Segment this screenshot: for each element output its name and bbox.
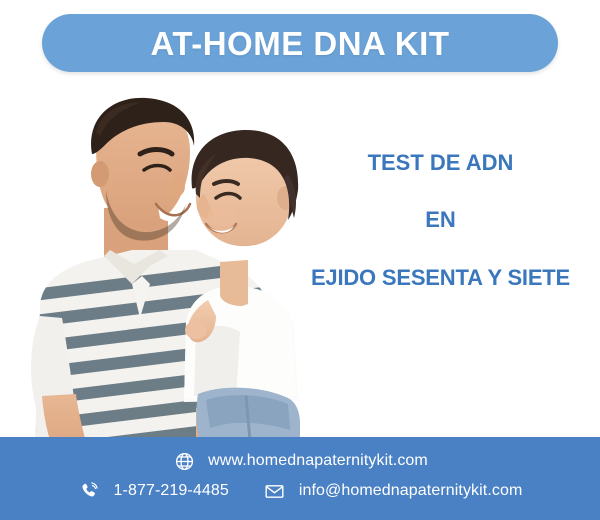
phone-text: 1-877-219-4485 — [114, 482, 229, 500]
globe-icon — [172, 449, 196, 473]
footer-website-row: www.homednapaternitykit.com — [0, 449, 600, 473]
headline-block: TEST DE ADN EN EJIDO SESENTA Y SIETE — [288, 150, 593, 290]
contact-email[interactable]: info@homednapaternitykit.com — [263, 479, 523, 503]
header-banner: AT-HOME DNA KIT — [42, 14, 558, 72]
website-text: www.homednapaternitykit.com — [208, 452, 428, 470]
contact-phone[interactable]: 1-877-219-4485 — [78, 479, 229, 503]
email-text: info@homednapaternitykit.com — [299, 482, 523, 500]
page-title: AT-HOME DNA KIT — [151, 27, 450, 60]
dna-kit-poster: AT-HOME DNA KIT — [0, 0, 600, 520]
headline-line-2: EN — [288, 207, 593, 232]
envelope-icon — [263, 479, 287, 503]
footer-contact-bar: www.homednapaternitykit.com 1-877-219-44… — [0, 437, 600, 520]
contact-website[interactable]: www.homednapaternitykit.com — [172, 449, 428, 473]
phone-icon — [78, 479, 102, 503]
footer-contact-row: 1-877-219-4485 info@homednapaternitykit.… — [0, 479, 600, 503]
headline-line-3: EJIDO SESENTA Y SIETE — [288, 265, 593, 290]
headline-line-1: TEST DE ADN — [288, 150, 593, 175]
family-photo — [0, 78, 320, 463]
